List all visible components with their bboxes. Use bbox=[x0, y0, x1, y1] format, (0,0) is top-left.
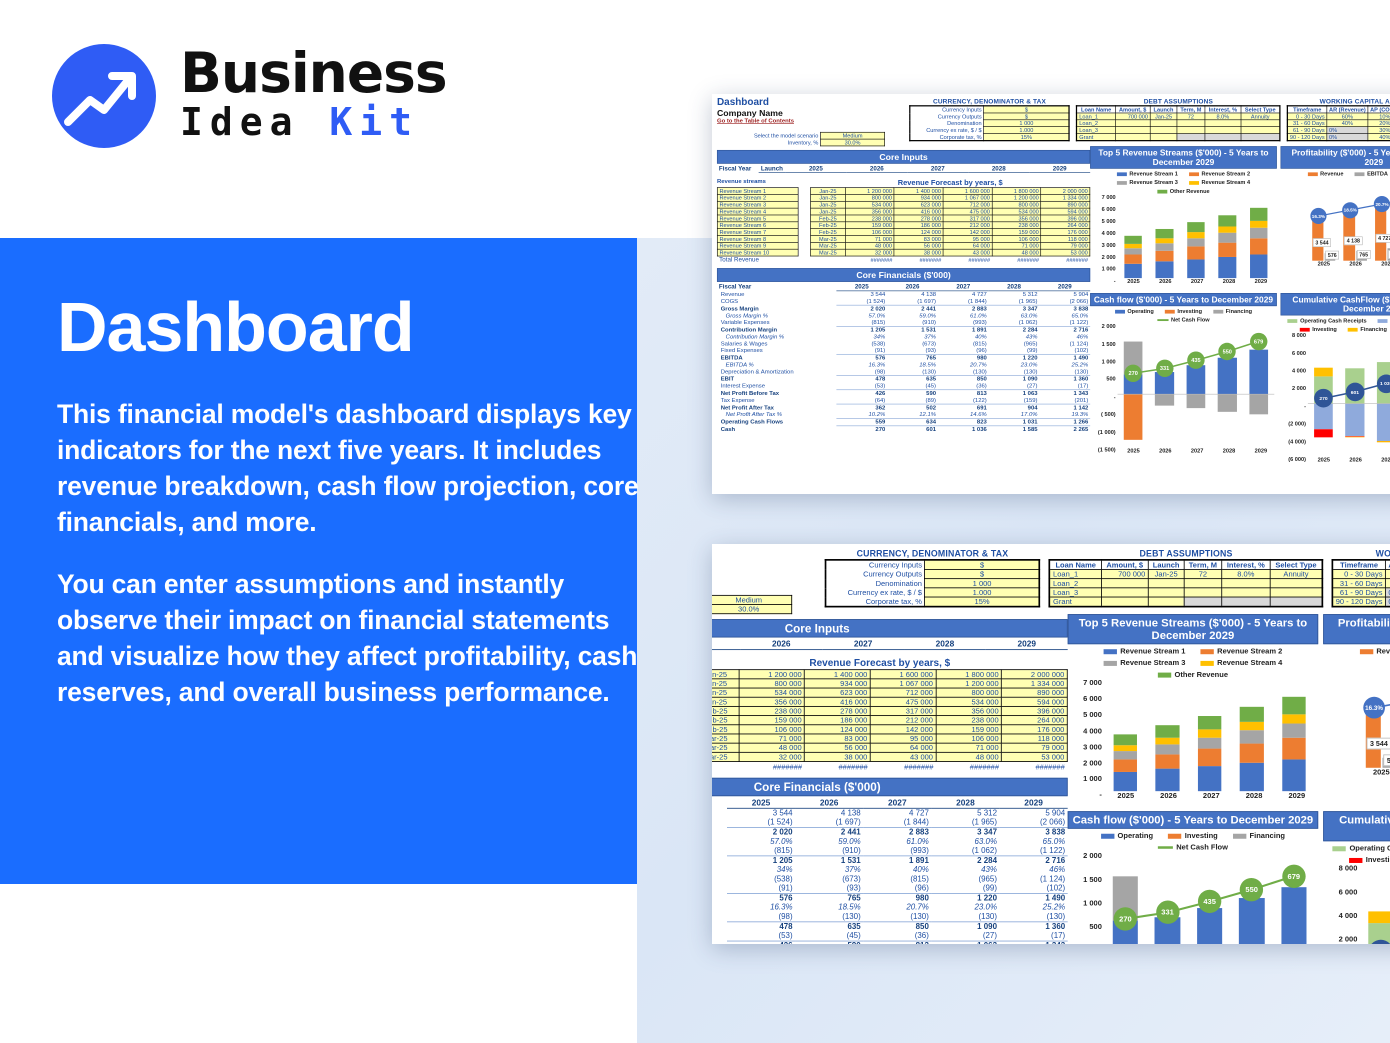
wc-cell[interactable]: 60% bbox=[1327, 113, 1368, 120]
revenue-stream-value[interactable]: 1 067 000 bbox=[943, 195, 992, 202]
financial-row-label: Tax Expense bbox=[717, 397, 836, 404]
revenue-stream-value[interactable]: 118 000 bbox=[1041, 236, 1090, 243]
revenue-stream-value[interactable]: 43 000 bbox=[870, 752, 936, 761]
debt-cell[interactable]: Loan_3 bbox=[1050, 588, 1102, 597]
financial-row-value: (130) bbox=[795, 912, 863, 922]
chart-revenue-streams[interactable]: Top 5 Revenue Streams ($'000) - 5 Years … bbox=[1068, 614, 1319, 804]
financial-row-value: 1 360 bbox=[999, 922, 1067, 932]
debt-cell[interactable]: Loan_2 bbox=[1050, 579, 1102, 588]
revenue-stream-value[interactable]: 534 000 bbox=[739, 688, 805, 697]
financial-row-value: 635 bbox=[795, 922, 863, 932]
financial-row-label: Interest Expense bbox=[712, 932, 727, 942]
y-tick-label: 6 000 bbox=[1292, 350, 1306, 356]
revenue-stream-value[interactable]: 317 000 bbox=[870, 707, 936, 716]
financial-row-value: 43% bbox=[989, 334, 1040, 341]
value-bubble: 601 bbox=[1346, 383, 1365, 402]
revenue-stream-launch[interactable]: Jan-25 bbox=[811, 195, 846, 202]
wc-cell[interactable]: 40% bbox=[1368, 133, 1390, 140]
revenue-stream-value[interactable]: 142 000 bbox=[870, 725, 936, 734]
revenue-stream-launch[interactable]: Mar-25 bbox=[811, 249, 846, 256]
revenue-stream-value[interactable]: 1 200 000 bbox=[845, 188, 894, 195]
dashboard-sheet-full[interactable]: DashboardCompany NameGo to the Table of … bbox=[712, 94, 1390, 494]
revenue-stream-value[interactable]: 106 000 bbox=[992, 236, 1041, 243]
revenue-stream-value[interactable]: 43 000 bbox=[943, 249, 992, 256]
revenue-stream-launch[interactable]: Mar-25 bbox=[712, 752, 739, 761]
revenue-stream-launch[interactable]: Feb-25 bbox=[712, 716, 739, 725]
revenue-stream-launch[interactable]: Feb-25 bbox=[712, 725, 739, 734]
revenue-stream-value[interactable]: 278 000 bbox=[805, 707, 871, 716]
y-tick-label: (1 500) bbox=[1098, 447, 1116, 453]
debt-cell[interactable] bbox=[1101, 588, 1148, 597]
x-tick-label: 2028 bbox=[1233, 791, 1276, 804]
legend-swatch bbox=[1117, 172, 1127, 176]
revenue-stream-value[interactable]: 800 000 bbox=[992, 201, 1041, 208]
chart-profitability[interactable]: Profitability ($'000) - 5 Years to Decem… bbox=[1323, 614, 1390, 804]
debt-cell[interactable] bbox=[1177, 127, 1205, 134]
revenue-stream-value[interactable]: 712 000 bbox=[943, 201, 992, 208]
bar-segment bbox=[1282, 714, 1306, 723]
revenue-stream-value[interactable]: 38 000 bbox=[894, 249, 943, 256]
financial-row: Fixed Expenses(91)(93)(96)(99)(102) bbox=[717, 347, 1090, 354]
debt-cell[interactable] bbox=[1115, 133, 1150, 140]
financial-row-value: 2 716 bbox=[999, 856, 1067, 866]
revenue-stream-value[interactable]: 416 000 bbox=[805, 697, 871, 706]
revenue-stream-value[interactable]: 159 000 bbox=[992, 229, 1041, 236]
wc-cell[interactable]: 90 - 120 Days bbox=[1287, 133, 1327, 140]
revenue-stream-value[interactable]: 2 000 000 bbox=[1041, 188, 1090, 195]
revenue-stream-value[interactable]: 71 000 bbox=[739, 734, 805, 743]
financial-row-value: (1 524) bbox=[727, 818, 795, 828]
debt-cell[interactable] bbox=[1150, 133, 1177, 140]
currency-value[interactable]: 1 000 bbox=[984, 120, 1070, 127]
revenue-stream-value[interactable]: 800 000 bbox=[739, 679, 805, 688]
debt-cell[interactable] bbox=[1148, 597, 1184, 607]
currency-value[interactable]: 1.000 bbox=[984, 127, 1070, 134]
financial-row: Depreciation & Amortization(98)(130)(130… bbox=[717, 368, 1090, 375]
debt-cell[interactable]: Loan_1 bbox=[1077, 113, 1115, 120]
debt-cell[interactable] bbox=[1184, 588, 1222, 597]
debt-cell[interactable] bbox=[1148, 588, 1184, 597]
currency-value[interactable]: $ bbox=[925, 560, 1040, 570]
debt-cell[interactable]: 8.0% bbox=[1205, 113, 1241, 120]
wc-cell[interactable]: 90 - 120 Days bbox=[1332, 597, 1385, 607]
revenue-stream-value[interactable]: 534 000 bbox=[936, 697, 1002, 706]
wc-cell[interactable]: 61 - 90 Days bbox=[1287, 127, 1327, 134]
wc-cell[interactable]: 10% bbox=[1368, 113, 1390, 120]
debt-cell[interactable] bbox=[1222, 588, 1270, 597]
revenue-stream-value[interactable]: 56 000 bbox=[805, 743, 871, 752]
debt-cell[interactable] bbox=[1115, 120, 1150, 127]
bar-column bbox=[1189, 679, 1231, 791]
ebitda-percent-line bbox=[1308, 177, 1390, 270]
revenue-stream-value[interactable]: 534 000 bbox=[992, 208, 1041, 215]
revenue-stream-value[interactable]: 238 000 bbox=[845, 215, 894, 222]
debt-cell[interactable] bbox=[1222, 597, 1270, 607]
debt-cell[interactable]: 700 000 bbox=[1101, 569, 1148, 578]
revenue-stream-name[interactable]: Revenue Stream 2 bbox=[717, 195, 798, 202]
wc-row: 61 - 90 Days0%30% bbox=[1332, 588, 1390, 597]
revenue-stream-value[interactable]: 64 000 bbox=[870, 743, 936, 752]
y-tick-label: 4 000 bbox=[1083, 727, 1102, 735]
debt-cell[interactable]: Grant bbox=[1050, 597, 1102, 607]
revenue-stream-name[interactable]: Revenue Stream 9 bbox=[717, 242, 798, 249]
financial-row-value: 2 883 bbox=[938, 305, 989, 312]
debt-cell[interactable]: Annuity bbox=[1241, 113, 1280, 120]
revenue-stream-value[interactable]: 64 000 bbox=[943, 242, 992, 249]
revenue-stream-value[interactable]: 712 000 bbox=[870, 688, 936, 697]
debt-cell[interactable] bbox=[1150, 120, 1177, 127]
revenue-stream-value[interactable]: 475 000 bbox=[870, 697, 936, 706]
revenue-stream-value[interactable]: 356 000 bbox=[992, 215, 1041, 222]
wc-cell[interactable]: 0% bbox=[1327, 127, 1368, 134]
financial-row-value: (99) bbox=[989, 347, 1040, 354]
wc-cell[interactable]: 0% bbox=[1385, 597, 1390, 607]
legend-item: Revenue Stream 1 bbox=[1104, 647, 1186, 655]
debt-cell[interactable]: Loan_1 bbox=[1050, 569, 1102, 578]
chart-profitability[interactable]: Profitability ($'000) - 5 Years to Decem… bbox=[1281, 146, 1390, 288]
revenue-stream-launch[interactable]: Jan-25 bbox=[712, 697, 739, 706]
financial-row-value: 34% bbox=[836, 334, 887, 341]
revenue-stream-value[interactable]: 1 400 000 bbox=[894, 188, 943, 195]
y-tick-label: 1 000 bbox=[1083, 774, 1102, 782]
debt-cell[interactable] bbox=[1184, 597, 1222, 607]
inventory-input[interactable]: 30.0% bbox=[821, 139, 885, 146]
currency-value[interactable]: $ bbox=[925, 569, 1040, 578]
wc-cell[interactable]: 0% bbox=[1327, 133, 1368, 140]
page-title: Dashboard bbox=[57, 292, 657, 362]
debt-cell[interactable] bbox=[1184, 579, 1222, 588]
revenue-stream-value[interactable]: 32 000 bbox=[739, 752, 805, 761]
revenue-stream-value[interactable]: 1 200 000 bbox=[936, 679, 1002, 688]
revenue-stream-value[interactable]: 212 000 bbox=[870, 716, 936, 725]
revenue-stream-launch[interactable]: Feb-25 bbox=[811, 222, 846, 229]
revenue-stream-value[interactable]: 356 000 bbox=[936, 707, 1002, 716]
financial-row-value: (130) bbox=[938, 368, 989, 375]
financial-row-value: 3 544 bbox=[836, 291, 887, 298]
revenue-stream-launch[interactable]: Jan-25 bbox=[712, 688, 739, 697]
revenue-stream-launch[interactable]: Feb-25 bbox=[811, 215, 846, 222]
revenue-stream-row: Revenue Stream 7Feb-25106 000124 000142 … bbox=[717, 229, 1090, 236]
revenue-stream-launch[interactable]: Mar-25 bbox=[811, 236, 846, 243]
chart-cumulative-cashflow[interactable]: Cumulative CashFlow ($'000) - 5 Years to… bbox=[1281, 293, 1390, 467]
wc-cell[interactable]: 0% bbox=[1385, 588, 1390, 597]
revenue-stream-value[interactable]: 53 000 bbox=[1041, 249, 1090, 256]
revenue-stream-value[interactable]: 278 000 bbox=[894, 215, 943, 222]
revenue-stream-value[interactable]: 48 000 bbox=[739, 743, 805, 752]
wc-cell[interactable]: 61 - 90 Days bbox=[1332, 588, 1385, 597]
chart-title: Profitability ($'000) - 5 Years to Decem… bbox=[1323, 614, 1390, 644]
revenue-stream-value[interactable]: 106 000 bbox=[739, 725, 805, 734]
debt-cell[interactable]: Loan_3 bbox=[1077, 127, 1115, 134]
revenue-stream-name[interactable]: Revenue Stream 4 bbox=[717, 208, 798, 215]
revenue-stream-name[interactable]: Revenue Stream 8 bbox=[717, 236, 798, 243]
revenue-stream-value[interactable]: 56 000 bbox=[894, 242, 943, 249]
revenue-stream-value[interactable]: 238 000 bbox=[992, 222, 1041, 229]
revenue-stream-value[interactable]: 71 000 bbox=[992, 242, 1041, 249]
revenue-stream-value[interactable]: 1 600 000 bbox=[870, 670, 936, 679]
chart-x-axis: 20252026202720282029 bbox=[1308, 261, 1390, 271]
financial-row-value: 5 904 bbox=[1039, 291, 1090, 298]
inventory-input[interactable]: 30.0% bbox=[712, 605, 792, 614]
wc-cell[interactable]: 20% bbox=[1368, 120, 1390, 127]
table-of-contents-link[interactable]: Go to the Table of Contents bbox=[712, 576, 816, 585]
y-tick-label: 6 000 bbox=[1339, 888, 1358, 896]
legend-item: Financing bbox=[1348, 326, 1387, 332]
revenue-stream-value[interactable]: 106 000 bbox=[845, 229, 894, 236]
revenue-stream-value[interactable]: 106 000 bbox=[936, 734, 1002, 743]
revenue-stream-value[interactable]: 890 000 bbox=[1002, 688, 1068, 697]
revenue-stream-value[interactable]: 594 000 bbox=[1041, 208, 1090, 215]
revenue-stream-value[interactable]: 623 000 bbox=[894, 201, 943, 208]
revenue-stream-value[interactable]: 1 067 000 bbox=[870, 679, 936, 688]
debt-cell[interactable] bbox=[1150, 127, 1177, 134]
financial-row-value: 1 205 bbox=[727, 856, 795, 866]
financial-row-value: 823 bbox=[938, 418, 989, 425]
financial-row-value: (1 524) bbox=[836, 298, 887, 305]
revenue-stream-name[interactable]: Revenue Stream 5 bbox=[717, 215, 798, 222]
debt-cell[interactable] bbox=[1177, 120, 1205, 127]
revenue-stream-value[interactable]: 2 000 000 bbox=[1002, 670, 1068, 679]
revenue-stream-value[interactable]: 71 000 bbox=[845, 236, 894, 243]
debt-cell[interactable]: 72 bbox=[1184, 569, 1222, 578]
revenue-stream-value[interactable]: 1 200 000 bbox=[739, 670, 805, 679]
debt-cell[interactable] bbox=[1205, 127, 1241, 134]
wc-heading: WORKING CAPITAL ASSUMPTIONS bbox=[1332, 549, 1390, 559]
revenue-stream-value[interactable]: 534 000 bbox=[845, 201, 894, 208]
currency-value[interactable]: 1 000 bbox=[925, 579, 1040, 588]
debt-cell[interactable] bbox=[1101, 597, 1148, 607]
currency-value[interactable]: 1.000 bbox=[925, 588, 1040, 597]
legend-item: Investing bbox=[1168, 831, 1218, 839]
financial-row: Revenue3 5444 1384 7275 3125 904 bbox=[717, 291, 1090, 298]
legend-swatch bbox=[1189, 181, 1199, 185]
chart-x-axis: 20252026202720282029 bbox=[1360, 768, 1390, 781]
debt-cell[interactable]: 8.0% bbox=[1222, 569, 1270, 578]
financial-row-label: Gross Margin bbox=[712, 828, 727, 838]
financial-row-value: 1 220 bbox=[931, 894, 999, 904]
revenue-stream-value[interactable]: 396 000 bbox=[1041, 215, 1090, 222]
revenue-stream-launch[interactable]: Mar-25 bbox=[712, 743, 739, 752]
debt-cell[interactable] bbox=[1101, 579, 1148, 588]
financial-row-label: EBIT bbox=[712, 922, 727, 932]
revenue-stream-name[interactable]: Revenue Stream 10 bbox=[717, 249, 798, 256]
revenue-stream-value[interactable]: 1 200 000 bbox=[992, 195, 1041, 202]
currency-value[interactable]: $ bbox=[984, 113, 1070, 120]
revenue-stream-value[interactable]: 212 000 bbox=[943, 222, 992, 229]
debt-cell[interactable] bbox=[1177, 133, 1205, 140]
revenue-stream-value[interactable]: 48 000 bbox=[845, 242, 894, 249]
revenue-stream-value[interactable]: 264 000 bbox=[1002, 716, 1068, 725]
revenue-stream-value[interactable]: 48 000 bbox=[992, 249, 1041, 256]
revenue-stream-launch[interactable]: Jan-25 bbox=[811, 201, 846, 208]
revenue-stream-value[interactable]: 159 000 bbox=[845, 222, 894, 229]
legend-item: Other Revenue bbox=[1157, 188, 1209, 194]
revenue-stream-launch[interactable]: Jan-25 bbox=[811, 208, 846, 215]
wc-cell[interactable]: 31 - 60 Days bbox=[1287, 120, 1327, 127]
revenue-stream-value[interactable]: 124 000 bbox=[894, 229, 943, 236]
debt-cell[interactable] bbox=[1205, 120, 1241, 127]
wc-cell[interactable]: 0 - 30 Days bbox=[1287, 113, 1327, 120]
revenue-stream-value[interactable]: 186 000 bbox=[894, 222, 943, 229]
debt-cell[interactable]: Grant bbox=[1077, 133, 1115, 140]
chart-plot: 7 0006 0005 0004 0003 0002 0001 000-2025… bbox=[1090, 195, 1277, 288]
revenue-stream-launch[interactable]: Feb-25 bbox=[811, 229, 846, 236]
debt-cell[interactable]: 72 bbox=[1177, 113, 1205, 120]
debt-cell[interactable] bbox=[1270, 588, 1322, 597]
currency-value[interactable]: 15% bbox=[925, 597, 1040, 607]
revenue-stream-value[interactable]: 53 000 bbox=[1002, 752, 1068, 761]
financial-row-value: 502 bbox=[887, 404, 938, 411]
chart-cumulative-cashflow[interactable]: Cumulative CashFlow ($'000) - 5 Years to… bbox=[1323, 811, 1390, 944]
revenue-stream-value[interactable]: 79 000 bbox=[1002, 743, 1068, 752]
revenue-stream-name[interactable]: Revenue Stream 7 bbox=[717, 229, 798, 236]
revenue-stream-value[interactable]: 800 000 bbox=[845, 195, 894, 202]
revenue-stream-value[interactable]: 1 400 000 bbox=[805, 670, 871, 679]
currency-value[interactable]: $ bbox=[984, 106, 1070, 113]
financial-row-value: 1 343 bbox=[999, 941, 1067, 944]
revenue-stream-value[interactable]: 264 000 bbox=[1041, 222, 1090, 229]
revenue-stream-value[interactable]: 159 000 bbox=[936, 725, 1002, 734]
wc-cell[interactable]: 60% bbox=[1385, 569, 1390, 578]
financial-row-value: 20.7% bbox=[938, 362, 989, 369]
revenue-stream-name[interactable]: Revenue Stream 3 bbox=[717, 201, 798, 208]
revenue-stream-value[interactable]: 238 000 bbox=[936, 716, 1002, 725]
revenue-stream-value[interactable]: 83 000 bbox=[894, 236, 943, 243]
revenue-stream-value[interactable]: 238 000 bbox=[739, 707, 805, 716]
debt-cell[interactable]: 700 000 bbox=[1115, 113, 1150, 120]
revenue-stream-value[interactable]: 1 800 000 bbox=[992, 188, 1041, 195]
chart-cash-flow[interactable]: Cash flow ($'000) - 5 Years to December … bbox=[1068, 811, 1319, 944]
debt-cell[interactable]: Annuity bbox=[1270, 569, 1322, 578]
debt-cell[interactable] bbox=[1222, 579, 1270, 588]
financial-row-value: 1 490 bbox=[999, 894, 1067, 904]
dashboard-sheet-zoomed[interactable]: DashboardCompany NameGo to the Table of … bbox=[712, 544, 1390, 944]
revenue-stream-value[interactable]: 1 800 000 bbox=[936, 670, 1002, 679]
revenue-stream-value[interactable]: 356 000 bbox=[845, 208, 894, 215]
revenue-stream-value[interactable]: 800 000 bbox=[936, 688, 1002, 697]
chart-legend: RevenueEBITDAEBITDA % bbox=[1281, 169, 1390, 178]
legend-swatch bbox=[1189, 172, 1199, 176]
debt-cell[interactable] bbox=[1241, 127, 1280, 134]
revenue-stream-value[interactable]: 79 000 bbox=[1041, 242, 1090, 249]
revenue-stream-launch[interactable]: Jan-25 bbox=[712, 670, 739, 679]
debt-cell[interactable]: Jan-25 bbox=[1150, 113, 1177, 120]
debt-cell[interactable] bbox=[1115, 127, 1150, 134]
revenue-stream-value[interactable]: 356 000 bbox=[739, 697, 805, 706]
revenue-stream-value[interactable]: 594 000 bbox=[1002, 697, 1068, 706]
revenue-stream-value[interactable]: 142 000 bbox=[943, 229, 992, 236]
revenue-stream-value[interactable]: 176 000 bbox=[1002, 725, 1068, 734]
revenue-stream-value[interactable]: 83 000 bbox=[805, 734, 871, 743]
scenario-select[interactable]: Medium bbox=[821, 132, 885, 139]
currency-value[interactable]: 15% bbox=[984, 133, 1070, 140]
revenue-stream-launch[interactable]: Mar-25 bbox=[712, 734, 739, 743]
financial-row-value: 19.3% bbox=[1039, 411, 1090, 418]
chart-revenue-streams[interactable]: Top 5 Revenue Streams ($'000) - 5 Years … bbox=[1090, 146, 1277, 288]
revenue-stream-value[interactable]: 176 000 bbox=[1041, 229, 1090, 236]
revenue-stream-value[interactable]: 118 000 bbox=[1002, 734, 1068, 743]
wc-cell[interactable]: 40% bbox=[1385, 579, 1390, 588]
revenue-stream-value[interactable]: 159 000 bbox=[739, 716, 805, 725]
revenue-stream-value[interactable]: 934 000 bbox=[805, 679, 871, 688]
scenario-select[interactable]: Medium bbox=[712, 596, 792, 605]
wc-col-header: AP (COGS) bbox=[1368, 106, 1390, 113]
revenue-stream-value[interactable]: 623 000 bbox=[805, 688, 871, 697]
legend-item: Revenue bbox=[1308, 171, 1344, 177]
financial-row-value: 57.0% bbox=[727, 837, 795, 846]
financial-row-value: 65.0% bbox=[1039, 312, 1090, 319]
chart-cash-flow[interactable]: Cash flow ($'000) - 5 Years to December … bbox=[1090, 293, 1277, 467]
revenue-stream-value[interactable]: 1 334 000 bbox=[1041, 195, 1090, 202]
legend-item: Revenue Stream 4 bbox=[1189, 179, 1250, 185]
debt-cell[interactable] bbox=[1148, 579, 1184, 588]
revenue-stream-launch[interactable]: Feb-25 bbox=[712, 707, 739, 716]
legend-item: Revenue Stream 4 bbox=[1200, 659, 1282, 667]
wc-cell[interactable]: 0 - 30 Days bbox=[1332, 569, 1385, 578]
revenue-stream-value[interactable]: 396 000 bbox=[1002, 707, 1068, 716]
revenue-stream-value[interactable]: 1 600 000 bbox=[943, 188, 992, 195]
revenue-stream-value[interactable]: 317 000 bbox=[943, 215, 992, 222]
revenue-stream-name[interactable]: Revenue Stream 6 bbox=[717, 222, 798, 229]
fin-year-header: 2027 bbox=[863, 799, 931, 809]
revenue-stream-launch[interactable]: Mar-25 bbox=[811, 242, 846, 249]
revenue-stream-value[interactable]: 48 000 bbox=[936, 752, 1002, 761]
revenue-stream-value[interactable]: 890 000 bbox=[1041, 201, 1090, 208]
revenue-stream-value[interactable]: 32 000 bbox=[845, 249, 894, 256]
revenue-stream-value[interactable]: 934 000 bbox=[894, 195, 943, 202]
revenue-stream-value[interactable]: 71 000 bbox=[936, 743, 1002, 752]
revenue-stream-launch[interactable]: Jan-25 bbox=[811, 188, 846, 195]
chart-title: Top 5 Revenue Streams ($'000) - 5 Years … bbox=[1090, 146, 1277, 168]
revenue-stream-launch[interactable]: Jan-25 bbox=[712, 679, 739, 688]
revenue-stream-value[interactable]: 95 000 bbox=[943, 236, 992, 243]
financial-row-value: (99) bbox=[931, 884, 999, 894]
legend-swatch bbox=[1233, 834, 1246, 839]
financial-row-value: 61.0% bbox=[863, 837, 931, 846]
debt-cell[interactable] bbox=[1270, 579, 1322, 588]
trend-line bbox=[1104, 852, 1355, 944]
wc-cell[interactable]: 30% bbox=[1368, 127, 1390, 134]
revenue-stream-value[interactable]: 95 000 bbox=[870, 734, 936, 743]
y-tick-label: 1 000 bbox=[1102, 358, 1116, 364]
financial-row-value: 1 220 bbox=[989, 354, 1040, 361]
revenue-stream-value[interactable]: 475 000 bbox=[943, 208, 992, 215]
wc-block: WORKING CAPITAL ASSUMPTIONSTimeframeAR (… bbox=[1332, 549, 1390, 607]
debt-cell[interactable] bbox=[1241, 120, 1280, 127]
financial-row-value: (130) bbox=[999, 912, 1067, 922]
debt-cell[interactable] bbox=[1205, 133, 1241, 140]
revenue-stream-row: Revenue Stream 8Mar-2571 00083 00095 000… bbox=[712, 734, 1067, 743]
revenue-stream-value[interactable]: 124 000 bbox=[805, 725, 871, 734]
financial-row-value: (993) bbox=[938, 319, 989, 326]
revenue-stream-row: Revenue Stream 2Jan-25800 000934 0001 06… bbox=[712, 679, 1067, 688]
debt-cell[interactable] bbox=[1270, 597, 1322, 607]
debt-cell[interactable]: Loan_2 bbox=[1077, 120, 1115, 127]
y-tick-label: 8 000 bbox=[1339, 864, 1358, 872]
revenue-stream-value[interactable]: 186 000 bbox=[805, 716, 871, 725]
financial-row-label: Variable Expenses bbox=[712, 846, 727, 856]
revenue-stream-value[interactable]: 38 000 bbox=[805, 752, 871, 761]
revenue-stream-value[interactable]: 416 000 bbox=[894, 208, 943, 215]
revenue-stream-name[interactable]: Revenue Stream 1 bbox=[717, 188, 798, 195]
table-of-contents-link[interactable]: Go to the Table of Contents bbox=[717, 118, 903, 125]
revenue-stream-value[interactable]: 1 334 000 bbox=[1002, 679, 1068, 688]
debt-cell[interactable]: Jan-25 bbox=[1148, 569, 1184, 578]
wc-cell[interactable]: 31 - 60 Days bbox=[1332, 579, 1385, 588]
wc-row: 0 - 30 Days60%10% bbox=[1332, 569, 1390, 578]
debt-cell[interactable] bbox=[1241, 133, 1280, 140]
wc-cell[interactable]: 40% bbox=[1327, 120, 1368, 127]
